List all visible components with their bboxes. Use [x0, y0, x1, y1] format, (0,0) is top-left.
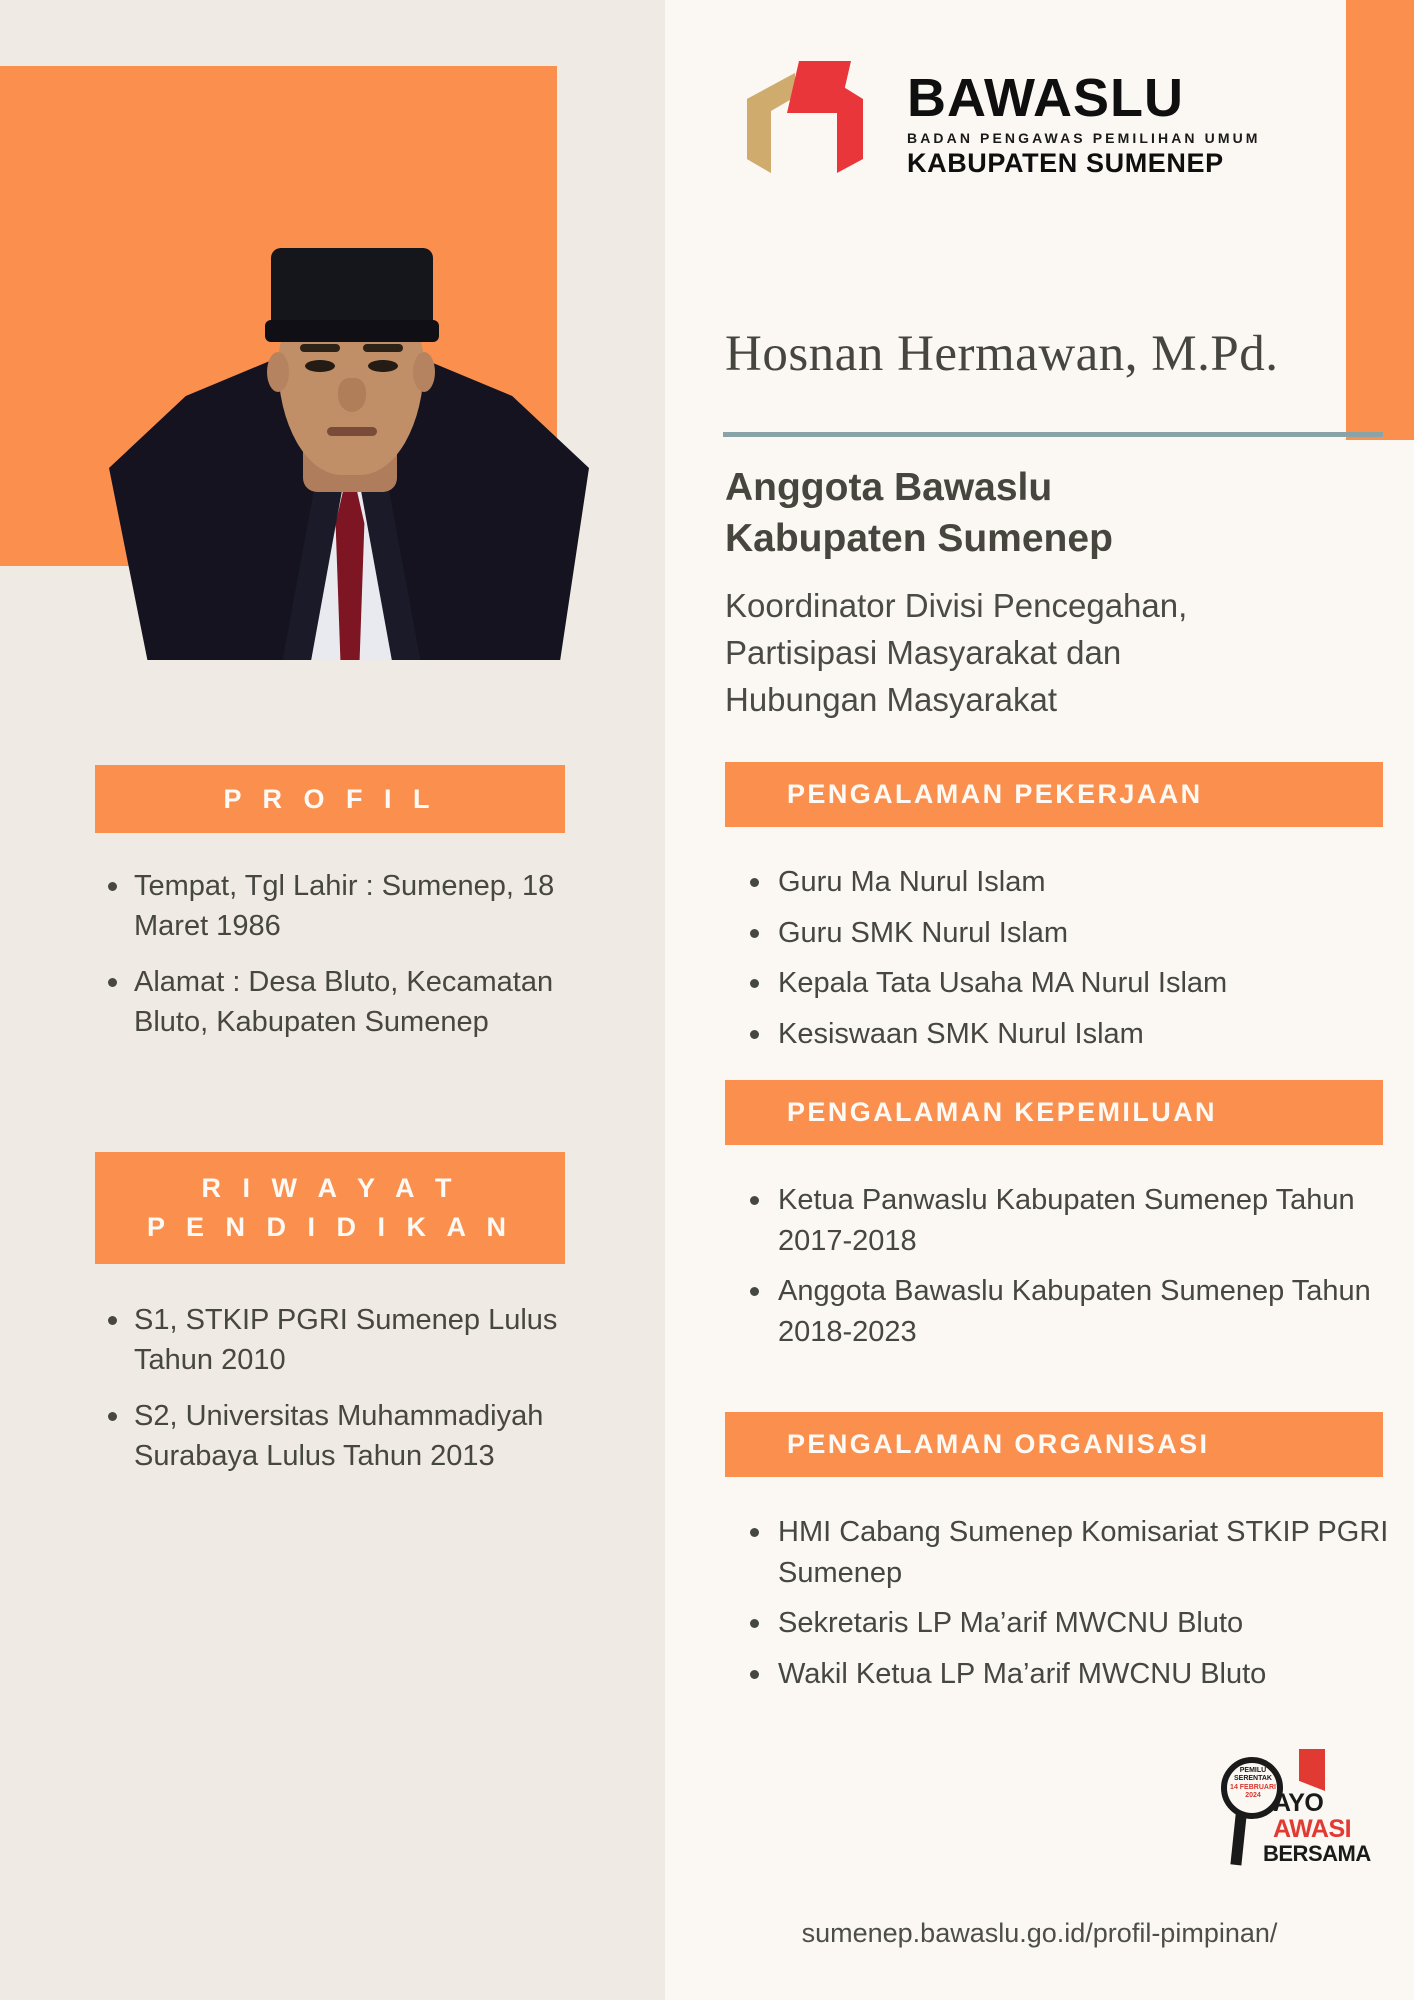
right-column: BAWASLU BADAN PENGAWAS PEMILIHAN UMUM KA… — [665, 0, 1414, 2000]
section-header-pendidikan-line2: P E N D I D I K A N — [147, 1208, 513, 1247]
nose-shape — [338, 378, 366, 412]
section-header-profil-label: P R O F I L — [223, 784, 436, 815]
eyebrow-right-shape — [363, 344, 403, 352]
ear-right-shape — [413, 352, 435, 392]
eye-right-shape — [368, 360, 398, 372]
kepemiluan-list: Ketua Panwaslu Kabupaten Sumenep Tahun 2… — [740, 1180, 1390, 1362]
ballot-box-icon — [725, 55, 885, 195]
role-subtitle-line1: Koordinator Divisi Pencegahan, — [725, 583, 1365, 630]
list-item: Guru SMK Nurul Islam — [740, 913, 1390, 954]
badge-bersama-label: BERSAMA — [1263, 1841, 1371, 1867]
organisasi-list: HMI Cabang Sumenep Komisariat STKIP PGRI… — [740, 1512, 1390, 1704]
logo-city: KABUPATEN SUMENEP — [907, 148, 1261, 179]
list-item: S1, STKIP PGRI Sumenep Lulus Tahun 2010 — [100, 1300, 580, 1380]
section-header-organisasi: PENGALAMAN ORGANISASI — [725, 1412, 1383, 1477]
list-item: Sekretaris LP Ma’arif MWCNU Bluto — [740, 1603, 1390, 1644]
list-item: HMI Cabang Sumenep Komisariat STKIP PGRI… — [740, 1512, 1390, 1593]
section-header-pekerjaan-label: PENGALAMAN PEKERJAAN — [787, 779, 1203, 810]
section-header-profil: P R O F I L — [95, 765, 565, 833]
pekerjaan-list: Guru Ma Nurul Islam Guru SMK Nurul Islam… — [740, 862, 1390, 1064]
badge-date: 14 FEBRUARI — [1229, 1784, 1277, 1792]
section-header-pekerjaan: PENGALAMAN PEKERJAAN — [725, 762, 1383, 827]
red-flag-icon — [1299, 1749, 1325, 1791]
list-item: Anggota Bawaslu Kabupaten Sumenep Tahun … — [740, 1271, 1390, 1352]
badge-ayo-label: AYO — [1273, 1789, 1323, 1818]
logo-wordmark: BAWASLU — [907, 71, 1261, 125]
pendidikan-list: S1, STKIP PGRI Sumenep Lulus Tahun 2010 … — [100, 1300, 580, 1492]
list-item: Tempat, Tgl Lahir : Sumenep, 18 Maret 19… — [100, 866, 570, 946]
eye-left-shape — [305, 360, 335, 372]
section-header-pendidikan-line1: R I W A Y A T — [201, 1169, 458, 1208]
role-subtitle-line2: Partisipasi Masyarakat dan — [725, 630, 1365, 677]
role-subtitle-line3: Hubungan Masyarakat — [725, 677, 1365, 724]
badge-election-text: PEMILU SERENTAK 14 FEBRUARI 2024 — [1229, 1767, 1277, 1800]
portrait-illustration — [95, 110, 605, 660]
role-title-line1: Anggota Bawaslu — [725, 462, 1345, 513]
list-item: Guru Ma Nurul Islam — [740, 862, 1390, 903]
list-item: Kesiswaan SMK Nurul Islam — [740, 1014, 1390, 1055]
list-item: S2, Universitas Muhammadiyah Surabaya Lu… — [100, 1396, 580, 1476]
bawaslu-logo: BAWASLU BADAN PENGAWAS PEMILIHAN UMUM KA… — [725, 55, 1345, 195]
section-header-organisasi-label: PENGALAMAN ORGANISASI — [787, 1429, 1209, 1460]
person-name: Hosnan Hermawan, M.Pd. — [725, 325, 1365, 383]
portrait-photo — [95, 110, 605, 660]
profile-poster: P R O F I L Tempat, Tgl Lahir : Sumenep,… — [0, 0, 1414, 2000]
profil-list: Tempat, Tgl Lahir : Sumenep, 18 Maret 19… — [100, 866, 570, 1058]
eyebrow-left-shape — [300, 344, 340, 352]
mouth-shape — [327, 427, 377, 436]
peci-cap-shape — [271, 248, 433, 334]
role-title-line2: Kabupaten Sumenep — [725, 513, 1345, 564]
section-header-kepemiluan-label: PENGALAMAN KEPEMILUAN — [787, 1097, 1217, 1128]
role-subtitle: Koordinator Divisi Pencegahan, Partisipa… — [725, 583, 1365, 724]
badge-line1: PEMILU — [1229, 1767, 1277, 1775]
ayo-awasi-bersama-badge: PEMILU SERENTAK 14 FEBRUARI 2024 AYO AWA… — [1215, 1745, 1360, 1880]
list-item: Wakil Ketua LP Ma’arif MWCNU Bluto — [740, 1654, 1390, 1695]
logo-subtitle: BADAN PENGAWAS PEMILIHAN UMUM — [907, 130, 1261, 146]
list-item: Alamat : Desa Bluto, Kecamatan Bluto, Ka… — [100, 962, 570, 1042]
badge-line2: SERENTAK — [1229, 1775, 1277, 1783]
footer-url[interactable]: sumenep.bawaslu.go.id/profil-pimpinan/ — [665, 1918, 1414, 1949]
left-column: P R O F I L Tempat, Tgl Lahir : Sumenep,… — [0, 0, 665, 2000]
section-header-kepemiluan: PENGALAMAN KEPEMILUAN — [725, 1080, 1383, 1145]
badge-year: 2024 — [1229, 1792, 1277, 1800]
badge-awasi-label: AWASI — [1273, 1815, 1351, 1844]
divider-rule — [723, 432, 1383, 437]
section-header-pendidikan: R I W A Y A T P E N D I D I K A N — [95, 1152, 565, 1264]
list-item: Ketua Panwaslu Kabupaten Sumenep Tahun 2… — [740, 1180, 1390, 1261]
magnifier-handle-icon — [1230, 1815, 1246, 1866]
list-item: Kepala Tata Usaha MA Nurul Islam — [740, 963, 1390, 1004]
logo-text-block: BAWASLU BADAN PENGAWAS PEMILIHAN UMUM KA… — [907, 71, 1261, 179]
role-title: Anggota Bawaslu Kabupaten Sumenep — [725, 462, 1345, 565]
ear-left-shape — [267, 352, 289, 392]
